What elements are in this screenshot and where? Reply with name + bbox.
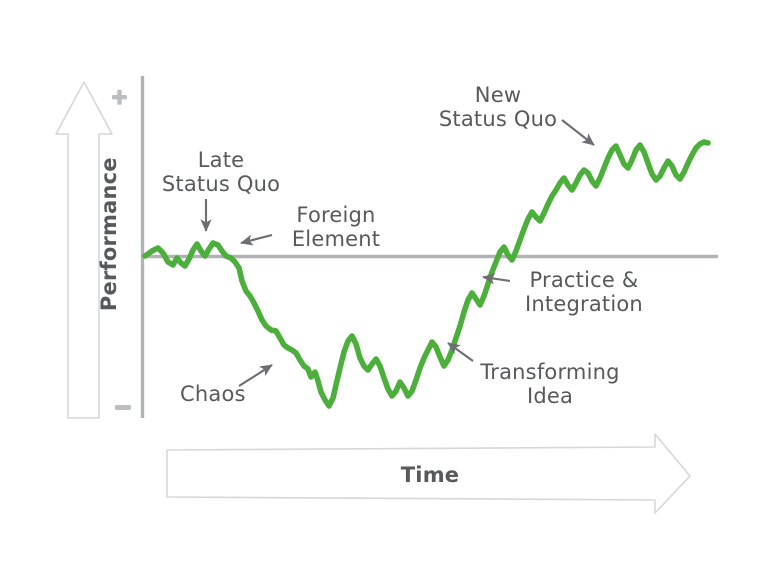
- label-new-status-quo: New Status Quo: [420, 83, 576, 132]
- satir-change-model-diagram: Late Status Quo Foreign Element New Stat…: [0, 0, 768, 565]
- label-transforming-idea: Transforming Idea: [470, 360, 630, 409]
- plus-marker-icon: [112, 90, 127, 105]
- foreign-element-arrow: [241, 235, 272, 243]
- label-late-status-quo: Late Status Quo: [155, 148, 287, 197]
- label-foreign-element: Foreign Element: [276, 203, 396, 252]
- label-practice-integration: Practice & Integration: [514, 268, 654, 317]
- label-time-axis: Time: [370, 463, 490, 487]
- label-performance-axis: Performance: [97, 149, 121, 319]
- minus-marker-icon: [115, 405, 131, 410]
- label-chaos: Chaos: [180, 382, 266, 406]
